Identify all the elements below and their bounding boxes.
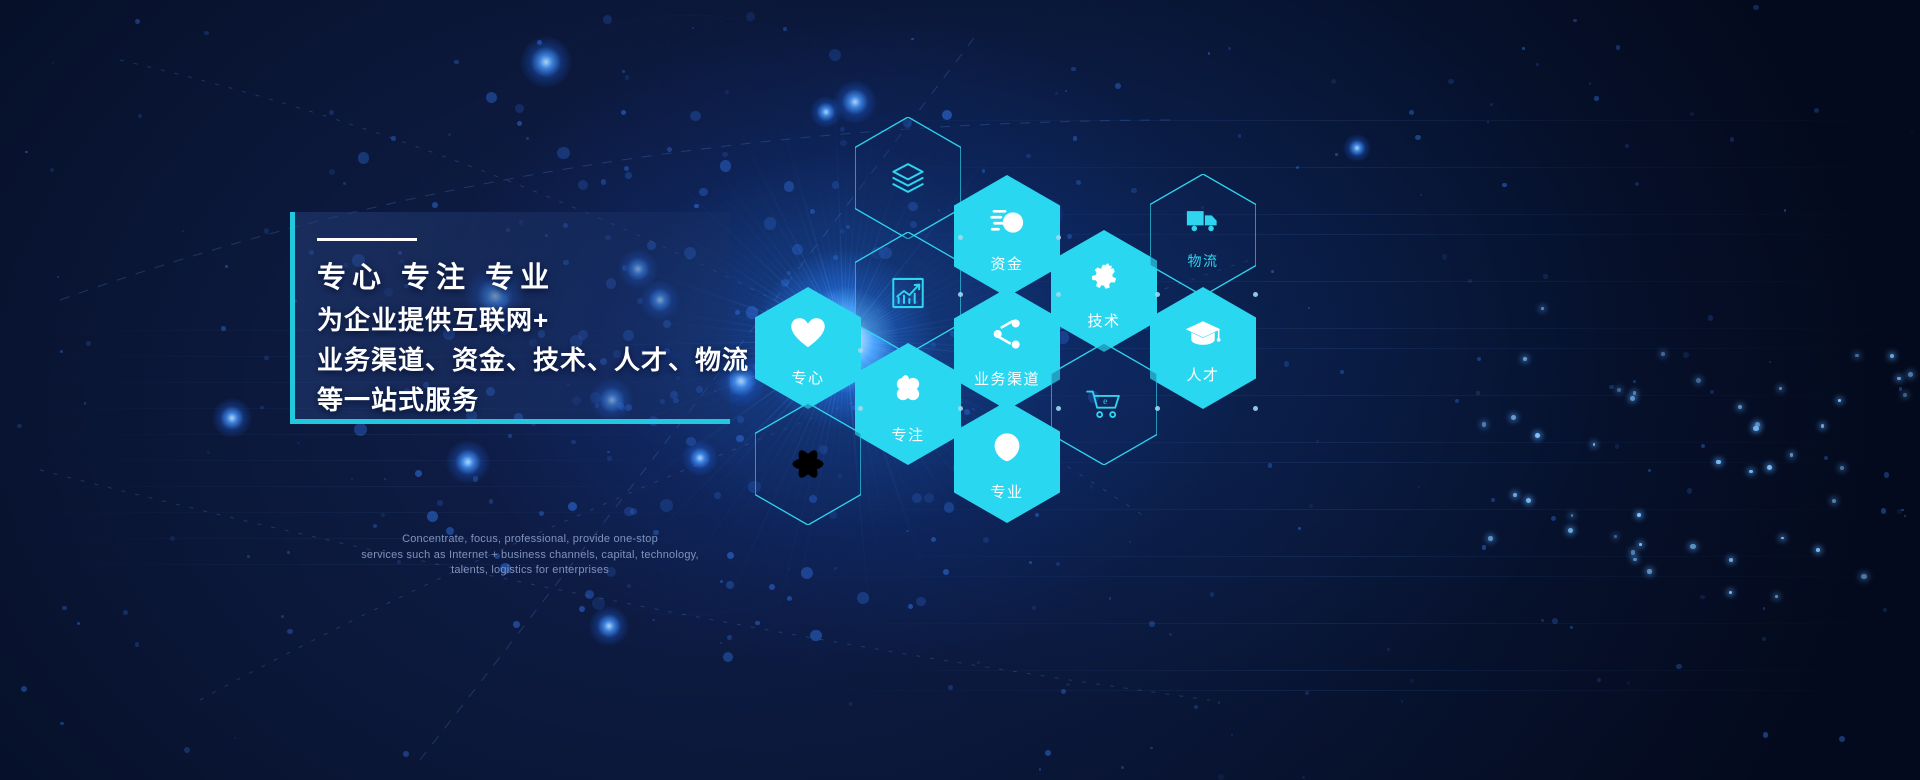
headline-line-2: 为企业提供互联网+ <box>317 300 777 340</box>
gears-icon <box>1087 261 1120 292</box>
hex-content: 物流 <box>1150 174 1256 296</box>
hex-content <box>855 117 961 239</box>
share-network-icon <box>992 319 1023 350</box>
hex-joint-node <box>1253 292 1258 297</box>
hex-joint-node <box>1155 292 1160 297</box>
banner-stage: 资金 技术 物流 业务渠道 人才 <box>0 0 1920 780</box>
hex-content: 技术 <box>1051 230 1157 352</box>
hex-tile-talent[interactable]: 人才 <box>1150 287 1256 409</box>
diamond-gem-icon <box>992 432 1022 463</box>
hex-joint-node <box>858 348 863 353</box>
hex-content <box>855 232 961 354</box>
svg-text:e: e <box>1103 397 1107 407</box>
headline-underline <box>295 419 730 424</box>
hex-tile-logistics[interactable]: 物流 <box>1150 174 1256 296</box>
clover-icon <box>892 373 924 405</box>
hex-joint-node <box>1253 406 1258 411</box>
hex-joint-node <box>1056 292 1061 297</box>
hex-label: 专注 <box>891 424 924 445</box>
hex-label: 人才 <box>1186 364 1219 385</box>
headline-line-3: 业务渠道、资金、技术、人才、物流 <box>317 340 777 380</box>
hex-tile-chart[interactable] <box>855 232 961 354</box>
hex-label: 资金 <box>990 253 1023 274</box>
shopping-cart-icon: e <box>1086 389 1122 420</box>
subtitle-text: Concentrate, focus, professional, provid… <box>330 532 730 579</box>
subtitle-line-3: talents, logistics for enterprises <box>330 563 730 579</box>
hex-joint-node <box>1155 406 1160 411</box>
hex-joint-node <box>858 406 863 411</box>
subtitle-line-1: Concentrate, focus, professional, provid… <box>330 532 730 548</box>
hex-tile-devotion[interactable]: 专注 <box>855 343 961 465</box>
hex-label: 业务渠道 <box>974 368 1040 389</box>
hex-content: 人才 <box>1150 287 1256 409</box>
hex-label: 物流 <box>1188 251 1219 271</box>
hex-content: 专注 <box>855 343 961 465</box>
hex-joint-node <box>1056 406 1061 411</box>
graduation-cap-icon <box>1185 319 1221 346</box>
headline-panel: 专心 专注 专业 为企业提供互联网+ 业务渠道、资金、技术、人才、物流 等一站式… <box>290 212 730 424</box>
subtitle-line-2: services such as Internet + business cha… <box>330 548 730 564</box>
hex-tile-channels[interactable]: 业务渠道 <box>954 288 1060 410</box>
hex-content: e <box>1051 343 1157 465</box>
hex-tile-profess[interactable]: 专业 <box>954 401 1060 523</box>
headline-line-4: 等一站式服务 <box>317 380 777 420</box>
hex-label: 专心 <box>791 367 824 388</box>
growth-chart-icon <box>891 276 924 309</box>
page-title: 专心 专注 专业 为企业提供互联网+ 业务渠道、资金、技术、人才、物流 等一站式… <box>317 256 777 420</box>
headline-rule <box>317 238 417 241</box>
headline-line-1: 专心 专注 专业 <box>317 256 777 300</box>
hex-content: 专业 <box>954 401 1060 523</box>
hex-tile-atom[interactable] <box>755 403 861 525</box>
hex-label: 技术 <box>1087 310 1120 331</box>
layers-icon <box>891 162 926 194</box>
hex-tile-layers[interactable] <box>855 117 961 239</box>
hex-content: 业务渠道 <box>954 288 1060 410</box>
heart-icon <box>791 318 826 349</box>
hex-tile-tech[interactable]: 技术 <box>1051 230 1157 352</box>
hex-content: 资金 <box>954 175 1060 297</box>
hex-tile-capital[interactable]: 资金 <box>954 175 1060 297</box>
hex-tile-cart[interactable]: e <box>1051 343 1157 465</box>
truck-icon <box>1186 207 1221 233</box>
hex-joint-node <box>958 406 963 411</box>
hex-content <box>755 403 861 525</box>
hex-joint-node <box>958 235 963 240</box>
yen-money-icon <box>990 207 1023 236</box>
hex-joint-node <box>958 292 963 297</box>
hex-label: 专业 <box>990 481 1023 502</box>
hex-joint-node <box>1056 235 1061 240</box>
atom-icon <box>791 447 826 482</box>
